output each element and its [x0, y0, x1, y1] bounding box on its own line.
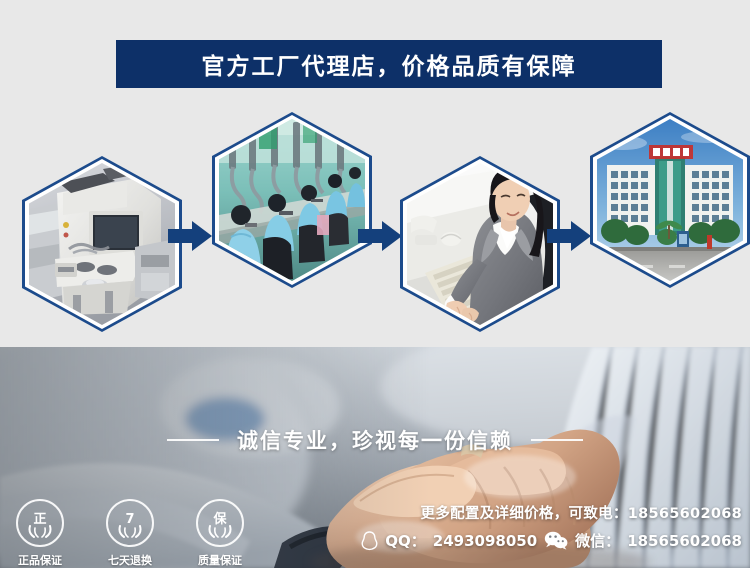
- slogan-row: 诚信专业，珍视每一份信赖: [0, 425, 750, 455]
- qq-number: 2493098050: [433, 532, 537, 550]
- trust-badges: 正 正品保证 7: [6, 499, 254, 568]
- trust-badge: 保 质量保证: [186, 499, 254, 568]
- badge-label: 正品保证: [18, 552, 62, 568]
- process-step-equipment: [22, 156, 182, 332]
- process-step-building: [590, 112, 750, 288]
- footer-spacer: [0, 568, 750, 576]
- promotional-banner-page: 官方工厂代理店，价格品质有保障: [0, 0, 750, 576]
- slogan-rule-right: [531, 439, 583, 441]
- process-step-office: [400, 156, 560, 332]
- slogan-text: 诚信专业，珍视每一份信赖: [237, 425, 513, 455]
- header-banner: 官方工厂代理店，价格品质有保障: [116, 40, 662, 88]
- hands-holding-seven-days-icon: 7: [106, 499, 154, 547]
- qq-penguin-icon: [361, 531, 378, 551]
- hands-icon: [207, 525, 233, 538]
- contact-phone-line: 更多配置及详细价格，可致电：18565602068: [361, 502, 742, 523]
- right-arrow-icon: [358, 221, 402, 251]
- qq-label: QQ：: [385, 530, 426, 551]
- wechat-icon: [544, 531, 568, 550]
- badge-glyph: 正: [33, 513, 46, 526]
- hands-holding-genuine-icon: 正: [16, 499, 64, 547]
- badge-label: 七天退换: [108, 552, 152, 568]
- process-step-factory: [212, 112, 372, 288]
- trust-badge: 正 正品保证: [6, 499, 74, 568]
- hands-icon: [27, 525, 53, 538]
- trust-section: 诚信专业，珍视每一份信赖 正 正品保证 7: [0, 347, 750, 568]
- process-section: 官方工厂代理店，价格品质有保障: [0, 0, 750, 347]
- badge-glyph: 7: [125, 513, 134, 526]
- wechat-label: 微信：: [575, 530, 620, 551]
- right-arrow-icon: [547, 221, 591, 251]
- contact-im-line: QQ： 2493098050 微信： 18565602068: [361, 530, 742, 551]
- contact-block: 更多配置及详细价格，可致电：18565602068 QQ： 2493098050: [361, 502, 742, 551]
- hands-icon: [117, 525, 143, 538]
- right-arrow-icon: [168, 221, 212, 251]
- badge-label: 质量保证: [198, 552, 242, 568]
- hands-holding-guarantee-icon: 保: [196, 499, 244, 547]
- page-title: 官方工厂代理店，价格品质有保障: [202, 47, 577, 81]
- trust-badge: 7 七天退换: [96, 499, 164, 568]
- wechat-number: 18565602068: [627, 532, 742, 550]
- slogan-rule-left: [167, 439, 219, 441]
- badge-glyph: 保: [213, 513, 226, 526]
